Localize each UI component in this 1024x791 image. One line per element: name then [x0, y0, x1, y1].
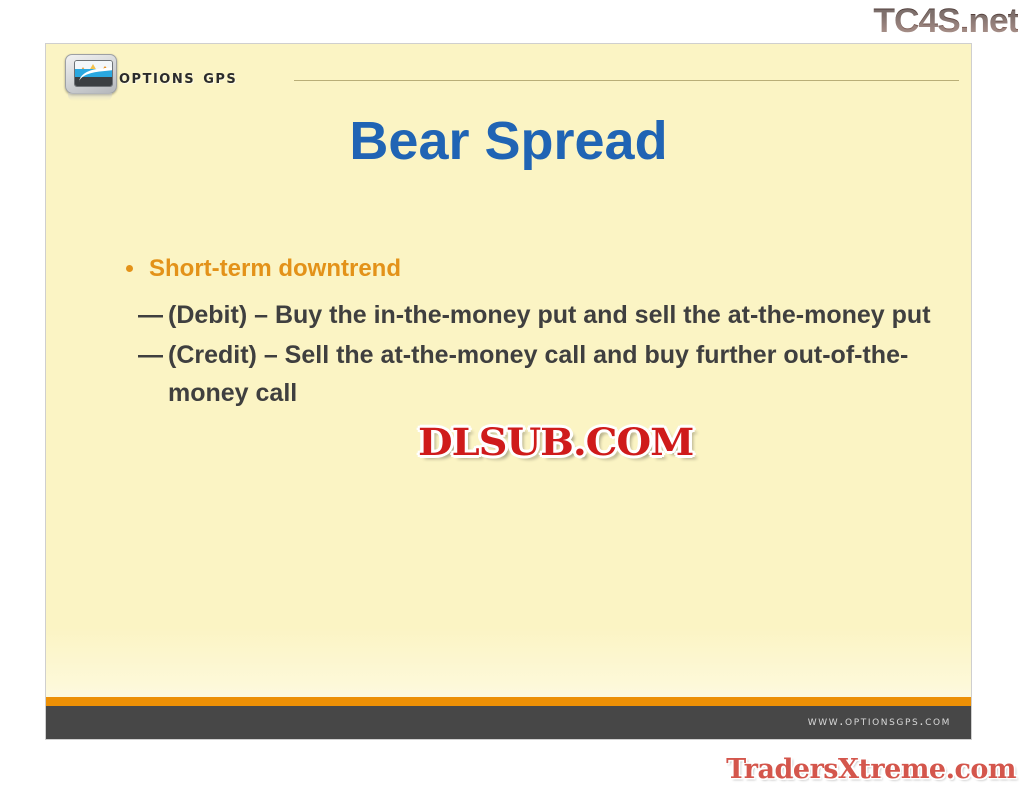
- bullet-text: (Debit) – Buy the in-the-money put and s…: [168, 301, 931, 329]
- gps-device-icon: [62, 53, 120, 99]
- em-dash-icon: —: [138, 336, 163, 374]
- footer-url: www.OptionsGPS.com: [808, 714, 951, 729]
- page-title: Bear Spread: [46, 110, 971, 172]
- header-divider: [294, 80, 959, 81]
- footer-accent-stripe: [46, 697, 971, 706]
- bullet-text: (Credit) – Sell the at-the-money call an…: [168, 341, 908, 407]
- bullet-dot-icon: [126, 265, 133, 272]
- em-dash-icon: —: [138, 296, 163, 334]
- overlay-watermark: DLSUB.COM: [418, 420, 693, 464]
- site-logo: TC4S.net: [873, 2, 1018, 40]
- slide-footer: www.OptionsGPS.com: [46, 706, 971, 739]
- brand-wordmark: Options GPS: [119, 66, 237, 88]
- slide-canvas: Options GPS Bear Spread Short-term downt…: [45, 43, 972, 740]
- bullet-item-credit: — (Credit) – Sell the at-the-money call …: [116, 336, 931, 412]
- bullet-text: Short-term downtrend: [149, 255, 401, 282]
- slide-body: Short-term downtrend — (Debit) – Buy the…: [116, 254, 931, 414]
- bottom-watermark: TradersXtreme.com: [726, 754, 1016, 785]
- slide-header: Options GPS: [46, 44, 971, 102]
- bullet-item-primary: Short-term downtrend: [116, 254, 931, 284]
- bullet-item-debit: — (Debit) – Buy the in-the-money put and…: [116, 296, 931, 334]
